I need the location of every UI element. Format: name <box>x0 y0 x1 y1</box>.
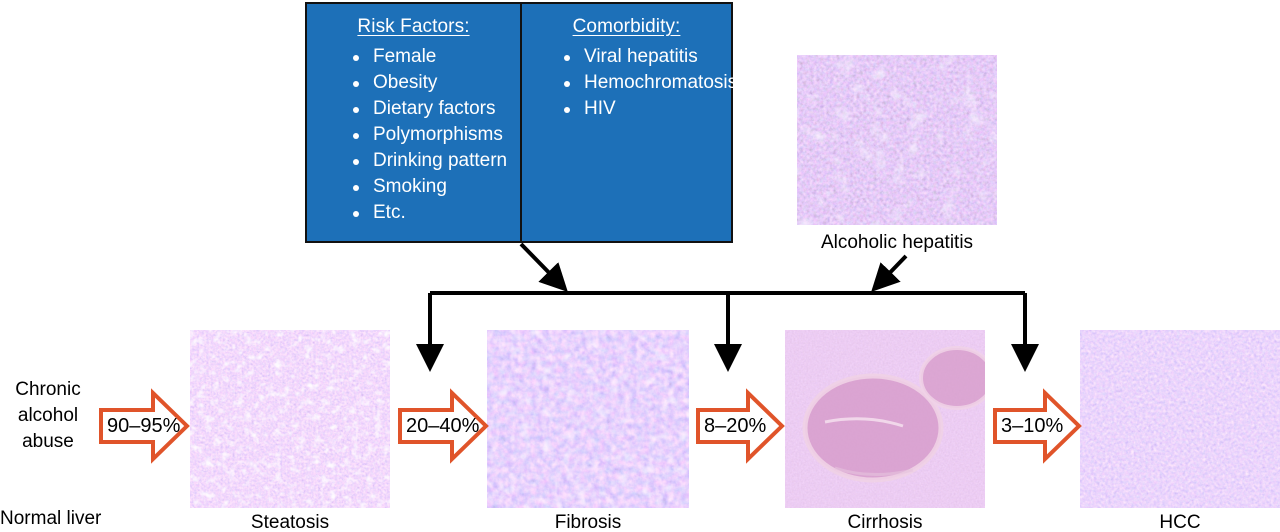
diagram-canvas: Risk Factors: Female Obesity Dietary fac… <box>0 0 1280 532</box>
alcoholic-hepatitis-slide-image <box>797 55 997 225</box>
risk-factor-item: Smoking <box>351 174 516 200</box>
transition-arrow-steatosis-to-fibrosis: 20–40% <box>397 388 489 464</box>
comorbidity-item: Viral hepatitis <box>562 44 727 70</box>
arrow-hepatitis-to-bracket <box>876 256 906 287</box>
fibrosis-slide-image <box>487 330 689 508</box>
micrograph-alcoholic-hepatitis <box>797 55 997 225</box>
caption-hcc: HCC <box>1080 512 1280 532</box>
source-line-3: abuse <box>2 429 94 455</box>
caption-fibrosis: Fibrosis <box>487 512 689 532</box>
risk-factor-item: Etc. <box>351 200 516 226</box>
chronic-alcohol-abuse-label: Chronic alcohol abuse <box>2 377 94 455</box>
steatosis-slide-image <box>190 330 390 508</box>
hcc-slide-image <box>1080 330 1280 508</box>
risk-comorbidity-panel: Risk Factors: Female Obesity Dietary fac… <box>305 2 733 243</box>
comorbidity-item: HIV <box>562 96 727 122</box>
risk-factor-item: Dietary factors <box>351 96 516 122</box>
cirrhosis-slide-image <box>785 330 985 508</box>
caption-cirrhosis: Cirrhosis <box>785 512 985 532</box>
transition-percent-label: 90–95% <box>98 415 180 438</box>
comorbidity-column: Comorbidity: Viral hepatitis Hemochromat… <box>520 4 731 241</box>
risk-factors-list: Female Obesity Dietary factors Polymorph… <box>311 44 516 226</box>
micrograph-hcc <box>1080 330 1280 508</box>
risk-factor-item: Female <box>351 44 516 70</box>
risk-factors-title: Risk Factors: <box>311 16 516 38</box>
comorbidity-title: Comorbidity: <box>526 16 727 38</box>
risk-factor-item: Drinking pattern <box>351 148 516 174</box>
micrograph-cirrhosis <box>785 330 985 508</box>
transition-percent-label: 20–40% <box>397 415 479 438</box>
caption-steatosis: Steatosis <box>190 512 390 532</box>
comorbidity-list: Viral hepatitis Hemochromatosis HIV <box>526 44 727 122</box>
caption-normal-liver: Normal liver <box>0 508 101 530</box>
source-line-2: alcohol <box>2 403 94 429</box>
transition-arrow-fibrosis-to-cirrhosis: 8–20% <box>695 388 785 464</box>
arrow-panel-to-bracket <box>521 244 563 287</box>
comorbidity-item: Hemochromatosis <box>562 70 727 96</box>
micrograph-steatosis <box>190 330 390 508</box>
risk-factor-item: Polymorphisms <box>351 122 516 148</box>
source-line-1: Chronic <box>2 377 94 403</box>
caption-alcoholic-hepatitis: Alcoholic hepatitis <box>797 232 997 254</box>
micrograph-fibrosis <box>487 330 689 508</box>
risk-factor-item: Obesity <box>351 70 516 96</box>
transition-percent-label: 3–10% <box>992 415 1063 438</box>
risk-factors-column: Risk Factors: Female Obesity Dietary fac… <box>307 4 520 241</box>
transition-percent-label: 8–20% <box>695 415 766 438</box>
transition-arrow-cirrhosis-to-hcc: 3–10% <box>992 388 1082 464</box>
transition-arrow-normal-to-steatosis: 90–95% <box>98 388 190 464</box>
